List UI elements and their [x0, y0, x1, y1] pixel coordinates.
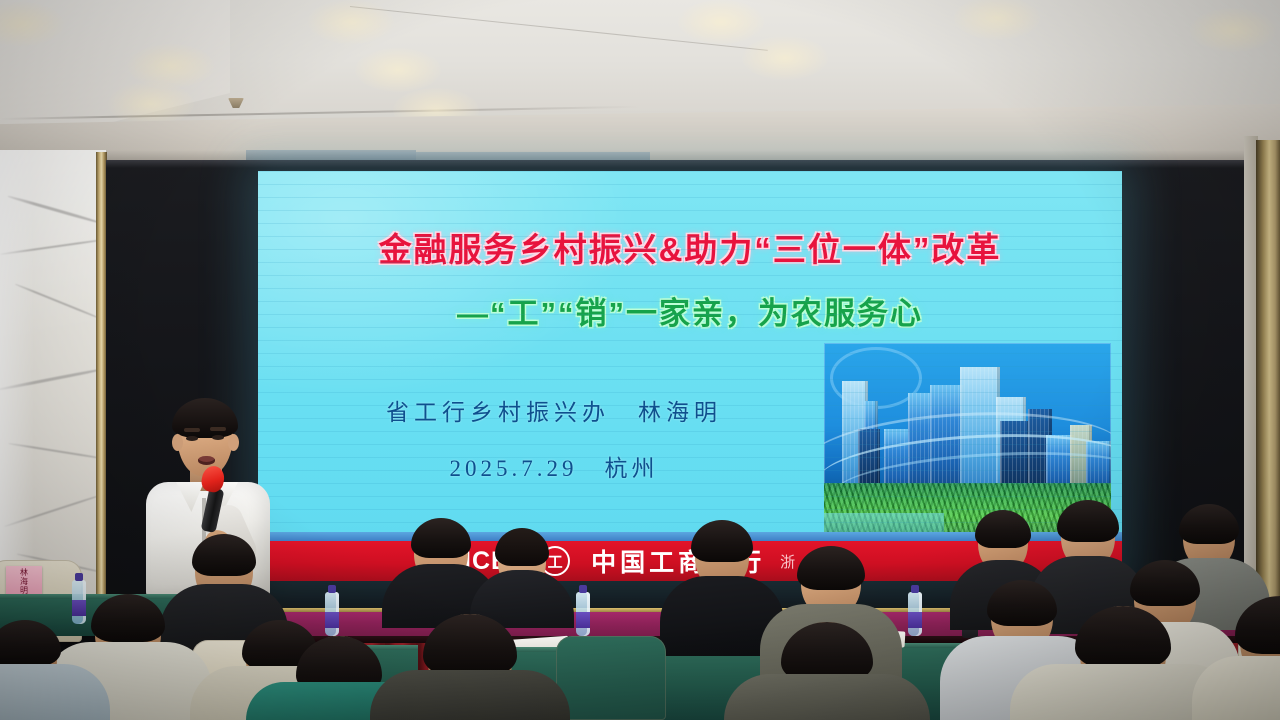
eyebrow — [210, 427, 226, 431]
chair — [556, 636, 666, 720]
ear — [228, 434, 239, 451]
downlight — [766, 48, 800, 64]
mouth — [198, 456, 215, 465]
ear — [172, 434, 183, 451]
backdrop-top-shine — [106, 160, 1256, 168]
wall-corner-highlight — [0, 150, 34, 620]
downlight — [332, 11, 366, 27]
bottle-label — [576, 612, 590, 628]
eyebrow — [184, 428, 200, 432]
sprinkler-head-icon — [228, 98, 244, 108]
downlight — [978, 4, 1012, 20]
downlight — [417, 101, 451, 117]
smoke-detector-icon — [426, 36, 448, 46]
attendee — [370, 614, 570, 720]
name-card-text: 林海明 — [19, 568, 30, 595]
name-card: 林海明 — [6, 566, 42, 596]
presenter-hair — [172, 398, 238, 438]
eye — [212, 435, 224, 440]
downlight — [379, 62, 413, 78]
eye — [186, 436, 198, 441]
attendee — [724, 622, 930, 720]
ceiling — [0, 0, 1280, 172]
conference-room-photo: 金融服务乡村振兴&助力“三位一体”改革 —“工”“销”一家亲，为农服务心 省工行… — [0, 0, 1280, 720]
downlight — [1214, 18, 1248, 34]
attendee — [0, 620, 110, 720]
downlight — [702, 8, 736, 24]
attendee — [470, 528, 574, 628]
downlight — [152, 58, 186, 74]
attendee — [1192, 596, 1280, 720]
downlight — [0, 16, 34, 32]
downlight — [132, 96, 166, 112]
water-bottle — [576, 592, 590, 636]
